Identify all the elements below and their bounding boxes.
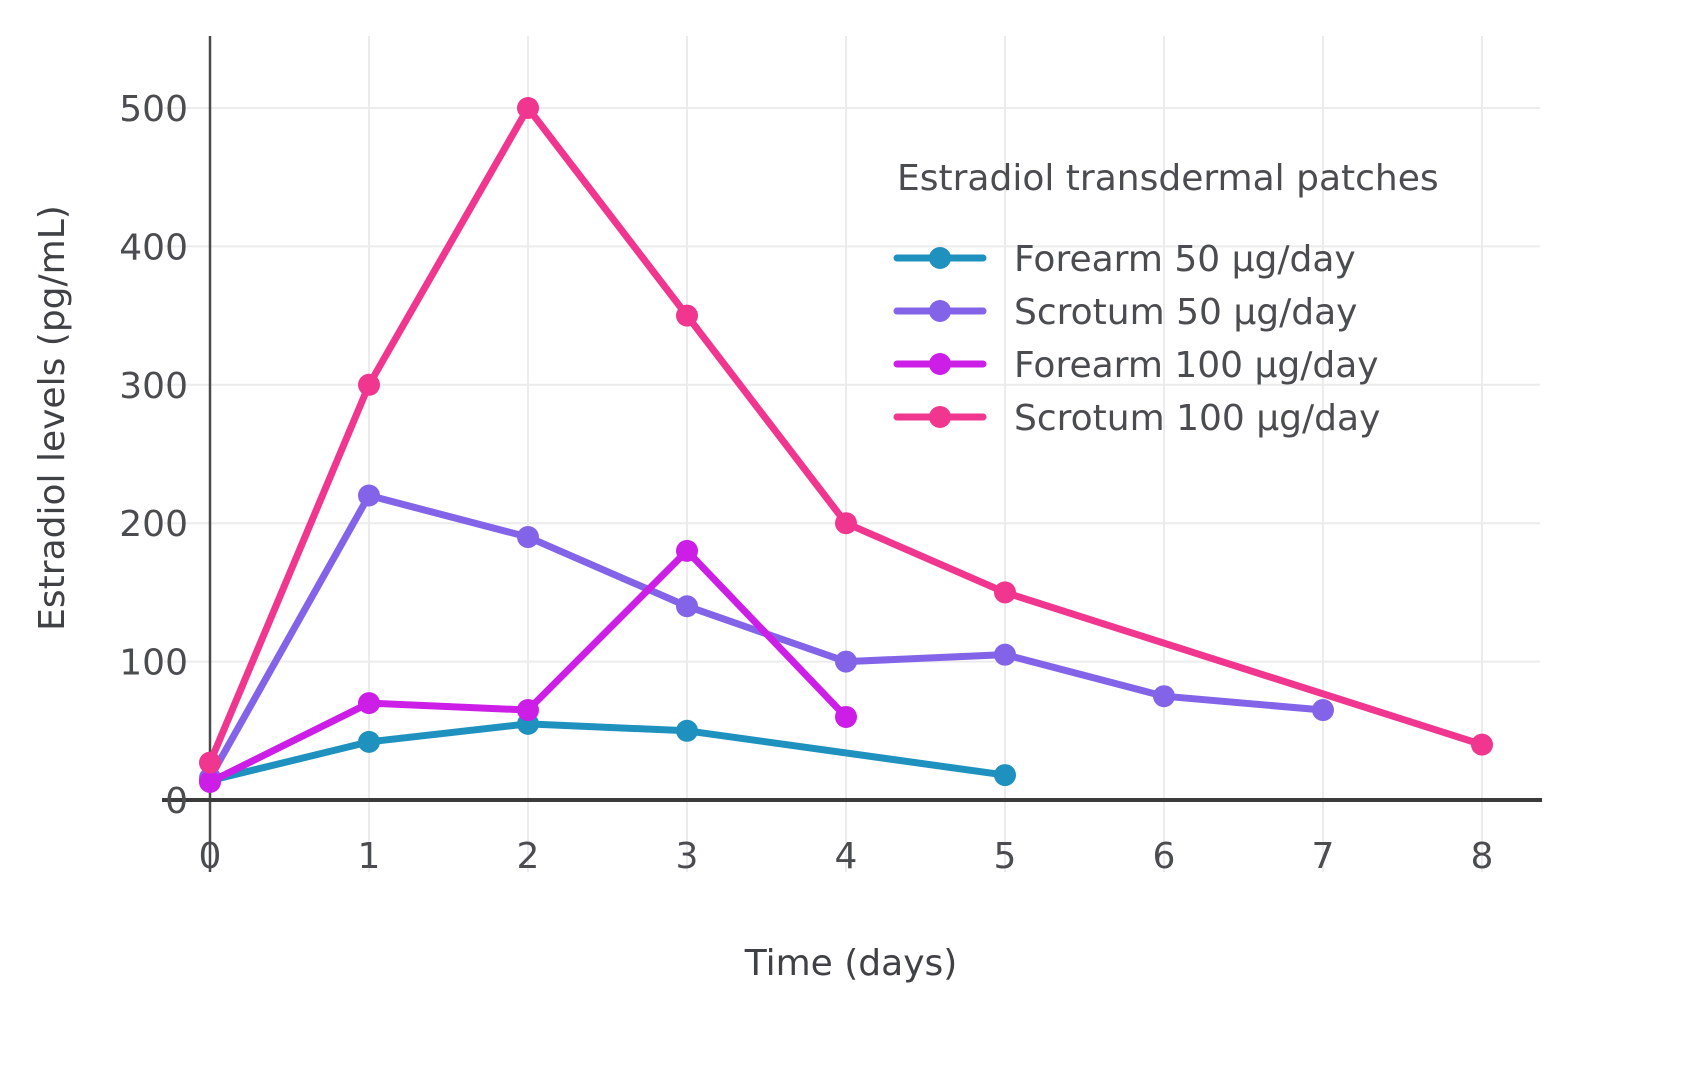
y-tick-label: 300 (119, 366, 188, 407)
data-point-marker[interactable] (676, 595, 698, 617)
y-tick-label: 0 (165, 781, 188, 822)
data-point-marker[interactable] (676, 720, 698, 742)
data-point-marker[interactable] (199, 771, 221, 793)
data-point-marker[interactable] (199, 752, 221, 774)
data-point-marker[interactable] (358, 731, 380, 753)
legend-entry[interactable]: Scrotum 100 µg/day (897, 398, 1380, 439)
data-point-marker[interactable] (1312, 699, 1334, 721)
legend-entry[interactable]: Scrotum 50 µg/day (897, 292, 1357, 333)
x-tick-label: 0 (199, 836, 222, 877)
legend-swatch-marker (929, 300, 951, 322)
y-axis-title: Estradiol levels (pg/mL) (32, 205, 73, 631)
legend-entry[interactable]: Forearm 100 µg/day (897, 345, 1379, 386)
data-point-marker[interactable] (835, 651, 857, 673)
y-tick-label: 400 (119, 227, 188, 268)
data-point-marker[interactable] (676, 540, 698, 562)
y-tick-labels: 0100200300400500 (119, 89, 188, 822)
chart-root: 0100200300400500 012345678 Estradiol lev… (0, 0, 1681, 1090)
data-point-marker[interactable] (676, 305, 698, 327)
data-point-marker[interactable] (835, 512, 857, 534)
y-tick-label: 200 (119, 504, 188, 545)
data-point-marker[interactable] (358, 692, 380, 714)
x-tick-label: 8 (1471, 836, 1494, 877)
data-point-marker[interactable] (517, 699, 539, 721)
x-tick-labels: 012345678 (199, 836, 1494, 877)
data-point-marker[interactable] (835, 706, 857, 728)
data-point-marker[interactable] (1471, 734, 1493, 756)
legend-entry-label: Scrotum 100 µg/day (1014, 398, 1380, 439)
data-point-marker[interactable] (358, 485, 380, 507)
data-point-marker[interactable] (994, 764, 1016, 786)
legend-entry[interactable]: Forearm 50 µg/day (897, 239, 1356, 280)
legend-swatch-marker (929, 406, 951, 428)
legend-entry-label: Scrotum 50 µg/day (1014, 292, 1357, 333)
x-tick-label: 6 (1153, 836, 1176, 877)
x-tick-label: 3 (676, 836, 699, 877)
line-chart: 0100200300400500 012345678 Estradiol lev… (0, 0, 1681, 1090)
legend-entry-label: Forearm 100 µg/day (1014, 345, 1379, 386)
x-tick-label: 7 (1312, 836, 1335, 877)
y-tick-label: 500 (119, 89, 188, 130)
data-point-marker[interactable] (517, 97, 539, 119)
legend-entry-label: Forearm 50 µg/day (1014, 239, 1356, 280)
x-axis-title: Time (days) (744, 943, 958, 984)
data-point-marker[interactable] (517, 526, 539, 548)
legend-title: Estradiol transdermal patches (897, 158, 1439, 199)
x-tick-label: 4 (835, 836, 858, 877)
legend-swatch-marker (929, 353, 951, 375)
x-tick-label: 1 (358, 836, 381, 877)
y-tick-label: 100 (119, 643, 188, 684)
legend: Estradiol transdermal patches Forearm 50… (897, 158, 1439, 439)
x-tick-label: 5 (994, 836, 1017, 877)
data-point-marker[interactable] (994, 644, 1016, 666)
x-tick-label: 2 (517, 836, 540, 877)
series-line (210, 724, 1005, 781)
data-point-marker[interactable] (358, 374, 380, 396)
data-point-marker[interactable] (994, 581, 1016, 603)
legend-swatch-marker (929, 247, 951, 269)
data-point-marker[interactable] (1153, 685, 1175, 707)
